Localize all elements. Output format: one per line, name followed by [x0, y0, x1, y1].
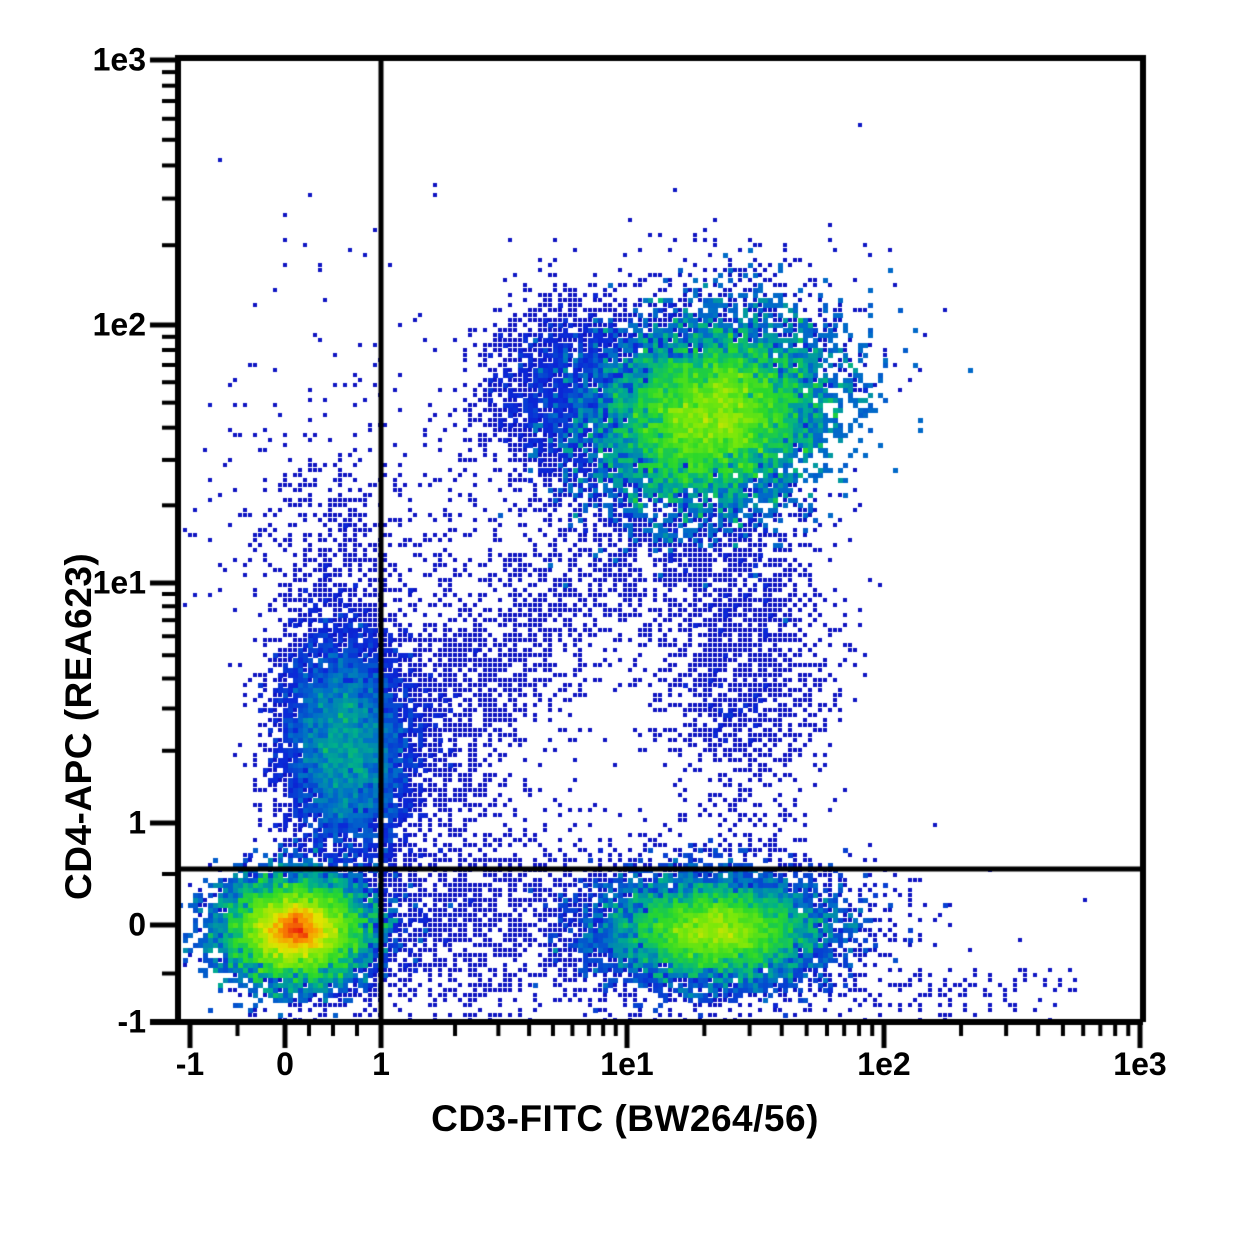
y-tick-label-5: -1 [0, 1004, 146, 1041]
flow-cytometry-plot: CD3-FITC (BW264/56) CD4-APC (REA623) -10… [0, 0, 1250, 1250]
y-tick-label-4: 0 [0, 907, 146, 944]
x-tick-label-0: -1 [176, 1046, 204, 1083]
y-tick-label-0: 1e3 [0, 42, 146, 79]
x-tick-label-5: 1e3 [1113, 1046, 1166, 1083]
y-tick-label-1: 1e2 [0, 307, 146, 344]
y-axis-title: CD4-APC (REA623) [58, 553, 100, 900]
x-axis-title: CD3-FITC (BW264/56) [0, 1098, 1250, 1140]
x-tick-label-2: 1 [372, 1046, 390, 1083]
x-tick-label-4: 1e2 [857, 1046, 910, 1083]
y-tick-label-3: 1 [0, 805, 146, 842]
x-tick-label-3: 1e1 [600, 1046, 653, 1083]
y-tick-label-2: 1e1 [0, 565, 146, 602]
x-tick-label-1: 0 [276, 1046, 294, 1083]
